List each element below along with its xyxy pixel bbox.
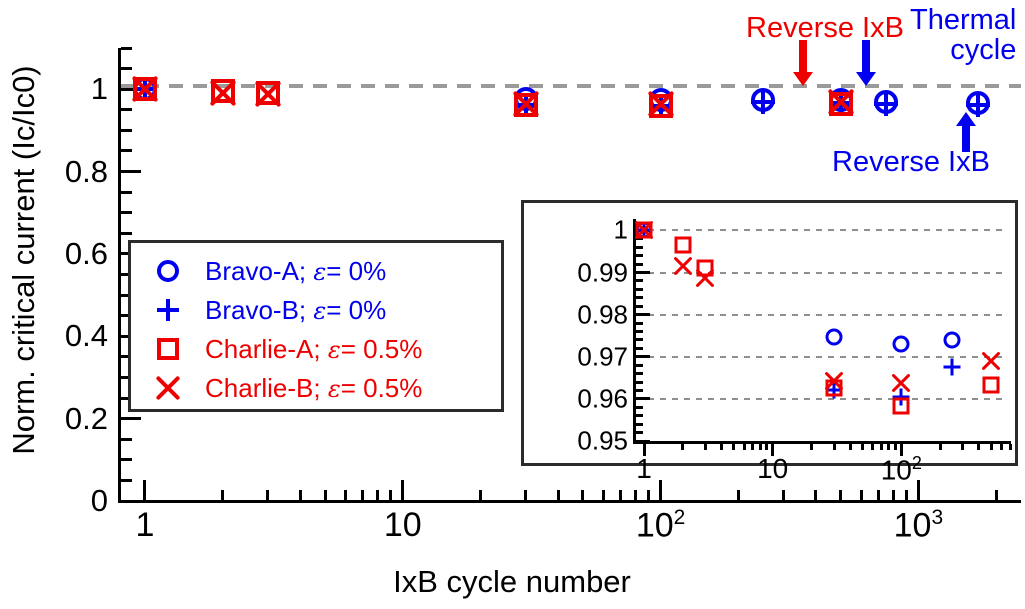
annotation-arrow-down-icon <box>793 40 813 91</box>
annotation-reverse-ixb-red: Reverse IxB <box>746 14 904 44</box>
legend-entry[interactable]: Bravo-B; ε= 0% <box>131 290 501 330</box>
legend-marker-cross-icon <box>131 374 205 402</box>
inset-marker-cross <box>980 349 1003 372</box>
legend-marker-circle-icon <box>131 257 205 285</box>
legend-marker-plus-icon <box>131 296 205 324</box>
legend-label: Bravo-B; ε= 0% <box>205 295 386 326</box>
inset-marker-square <box>633 219 656 242</box>
legend-label: Charlie-A; ε= 0.5% <box>205 334 422 365</box>
figure-root: Norm. critical current (Ic/Ic0) IxB cycl… <box>0 0 1025 609</box>
inset-marker-plus <box>890 385 913 408</box>
inset-marker-cross <box>890 372 913 395</box>
inset-plot-box: 0.950.960.970.980.991 110102 <box>521 200 1018 466</box>
legend-entry[interactable]: Charlie-A; ε= 0.5% <box>131 329 501 369</box>
inset-marker-plus <box>633 219 656 242</box>
legend-label: Charlie-B; ε= 0.5% <box>205 373 422 404</box>
annotation-arrow-down-icon <box>856 40 876 91</box>
inset-marker-square <box>823 377 846 400</box>
legend-entry[interactable]: Bravo-A; ε= 0% <box>131 251 501 291</box>
annotation-arrow-up-icon <box>956 112 976 157</box>
inset-marker-cross <box>823 369 846 392</box>
inset-marker-square <box>890 395 913 418</box>
inset-marker-cross <box>671 255 694 278</box>
inset-marker-circle <box>823 325 846 348</box>
inset-marker-plus <box>823 379 846 402</box>
annotation-thermal-cycle: Thermalcycle <box>910 6 1016 65</box>
inset-marker-square <box>980 374 1003 397</box>
inset-data-markers <box>524 203 1021 469</box>
inset-marker-plus <box>941 356 964 379</box>
legend-marker-square-icon <box>131 335 205 363</box>
inset-marker-circle <box>890 333 913 356</box>
legend-entry[interactable]: Charlie-B; ε= 0.5% <box>131 368 501 408</box>
inset-marker-circle <box>941 328 964 351</box>
legend-box: Bravo-A; ε= 0% Bravo-B; ε= 0% Charlie-A;… <box>128 240 504 412</box>
inset-marker-cross <box>694 267 717 290</box>
inset-marker-circle <box>633 219 656 242</box>
inset-marker-square <box>694 257 717 280</box>
inset-marker-square <box>671 234 694 257</box>
legend-label: Bravo-A; ε= 0% <box>205 256 386 287</box>
inset-marker-cross <box>633 219 656 242</box>
